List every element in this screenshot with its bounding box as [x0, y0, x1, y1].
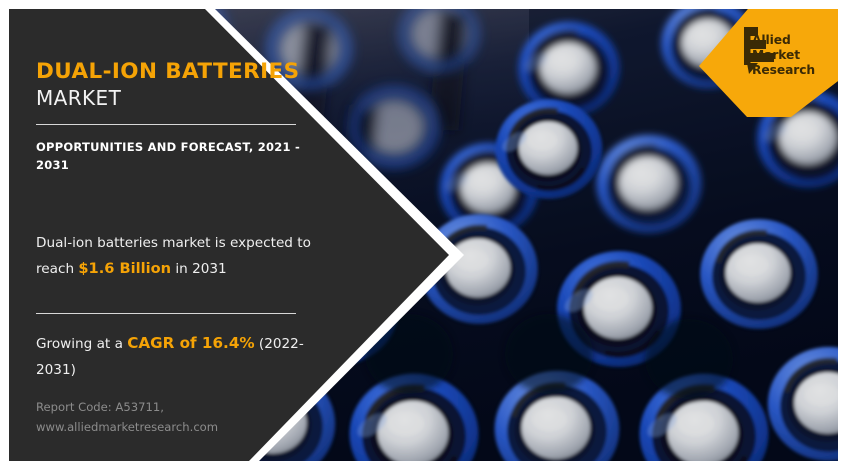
- page-title: DUAL-ION BATTERIES MARKET: [36, 60, 336, 110]
- title-line-2: MARKET: [36, 87, 336, 110]
- logo-line-1: Allied: [752, 33, 815, 48]
- stat-suffix: in 2031: [171, 261, 227, 277]
- website-url[interactable]: www.alliedmarketresearch.com: [36, 418, 296, 438]
- market-value-statement: Dual-ion batteries market is expected to…: [36, 231, 311, 282]
- allied-market-research-logo[interactable]: Allied Market Research: [690, 9, 838, 117]
- divider-bottom: [36, 313, 296, 314]
- stat-highlight-value: $1.6 Billion: [78, 260, 171, 277]
- cagr-prefix: Growing at a: [36, 336, 127, 352]
- cagr-highlight-value: CAGR of 16.4%: [127, 334, 254, 352]
- divider-top: [36, 124, 296, 125]
- logo-wordmark: Allied Market Research: [752, 33, 815, 78]
- cagr-statement: Growing at a CAGR of 16.4% (2022-2031): [36, 330, 316, 382]
- banner-content: DUAL-ION BATTERIES MARKET OPPORTUNITIES …: [0, 0, 450, 470]
- title-line-1: DUAL-ION BATTERIES: [36, 60, 336, 85]
- logo-line-2: Market: [752, 48, 815, 63]
- logo-line-3: Research: [752, 63, 815, 78]
- report-code: Report Code: A53711,: [36, 398, 296, 418]
- subtitle: OPPORTUNITIES AND FORECAST, 2021 - 2031: [36, 139, 308, 175]
- market-report-banner: DUAL-ION BATTERIES MARKET OPPORTUNITIES …: [0, 0, 847, 470]
- footer-meta: Report Code: A53711, www.alliedmarketres…: [36, 398, 296, 438]
